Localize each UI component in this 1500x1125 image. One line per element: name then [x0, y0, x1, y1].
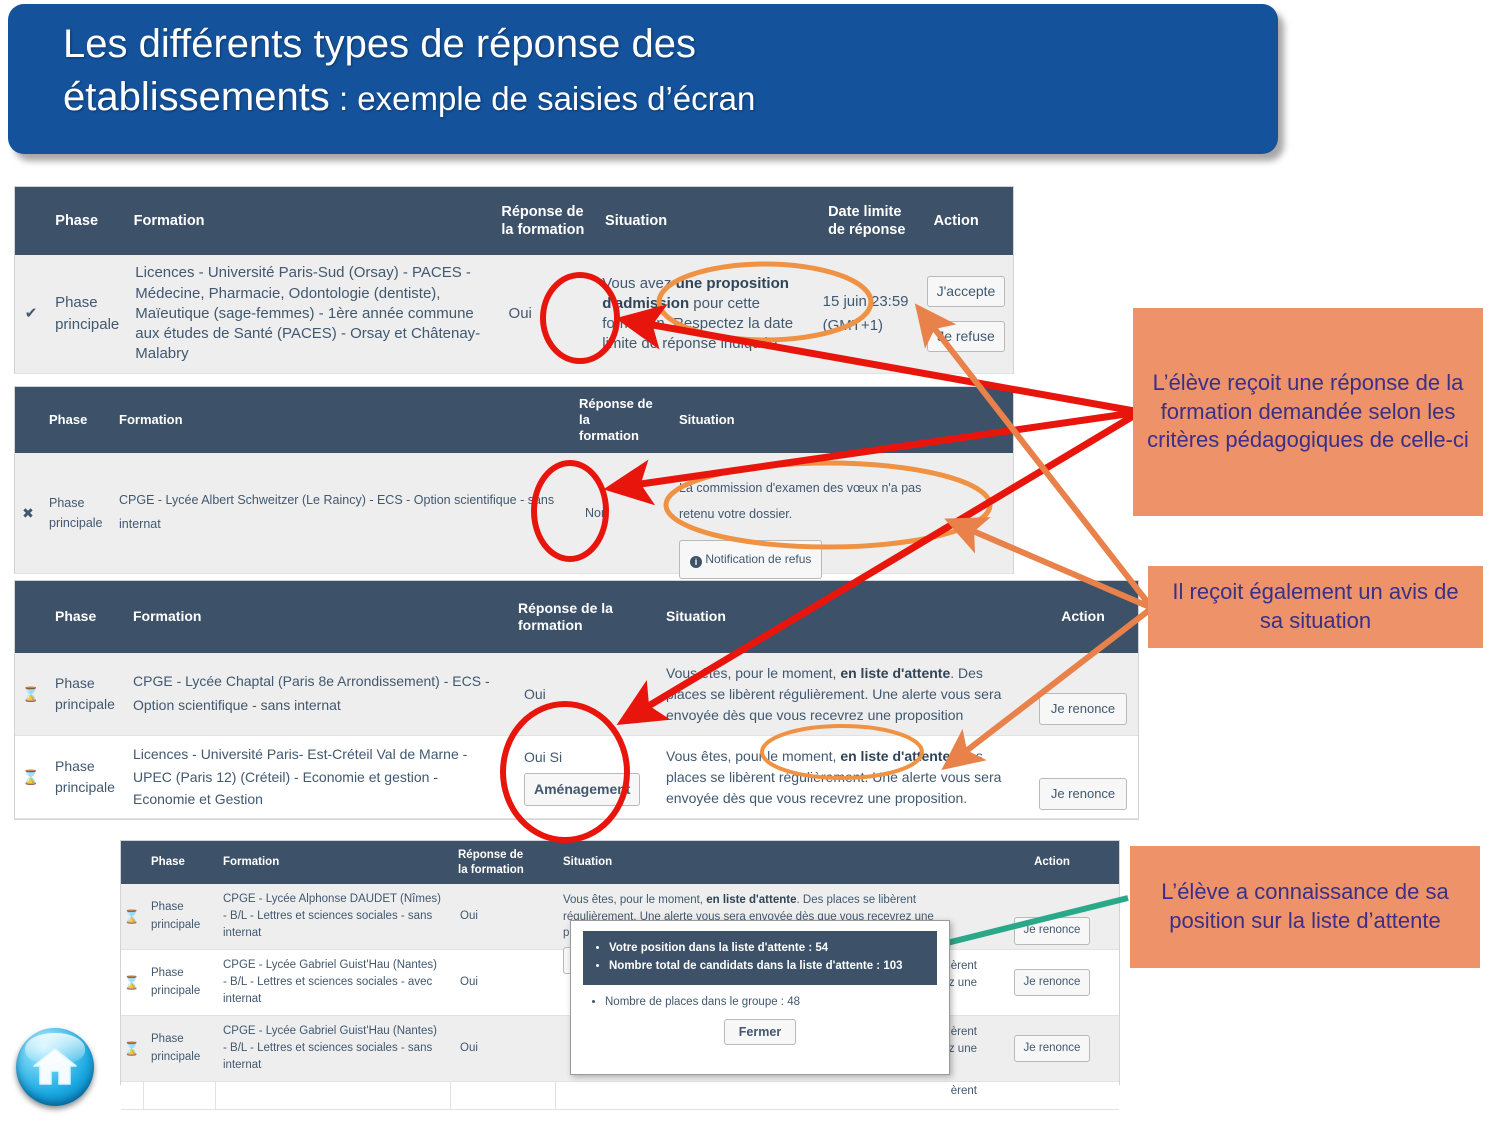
- reponse-value: Oui: [524, 685, 546, 704]
- cell-formation: CPGE - Lycée Chaptal (Paris 8e Arrondiss…: [125, 653, 510, 735]
- annotation-note-reponse: L’élève reçoit une réponse de la formati…: [1133, 308, 1483, 516]
- th-action: Action: [1028, 608, 1138, 626]
- hourglass-icon: ⌛: [121, 884, 143, 949]
- formation-text: CPGE - Lycée Alphonse DAUDET (Nîmes) - B…: [223, 891, 442, 943]
- annotation-note-avis: Il reçoit également un avis de sa situat…: [1148, 566, 1483, 648]
- situation-fragment-a: èrent: [951, 1026, 977, 1038]
- cell-formation: CPGE - Lycée Albert Schweitzer (Le Rainc…: [111, 453, 571, 573]
- cell-phase: Phaseprincipale: [47, 736, 125, 818]
- formation-text: CPGE - Lycée Gabriel Guist'Hau (Nantes) …: [223, 1023, 442, 1075]
- home-icon: [16, 1028, 94, 1106]
- check-icon: ✔: [15, 255, 47, 373]
- phase-line1: Phase: [55, 675, 95, 691]
- phase-line2: principale: [49, 516, 103, 530]
- cell-action: Je renonce: [985, 950, 1119, 1015]
- reponse-value: Non: [585, 505, 608, 522]
- situation-text: Vous êtes, pour le moment, en liste d'at…: [666, 663, 1020, 726]
- phase-line2: principale: [151, 919, 200, 931]
- reponse-value: Oui: [460, 909, 478, 925]
- formation-text: Licences - Université Paris-Sud (Orsay) …: [135, 263, 482, 364]
- situation-text: Vous êtes, pour le moment, en liste d'at…: [666, 746, 1020, 809]
- cell-reponse: Oui: [450, 1016, 555, 1081]
- cell-reponse: Oui: [510, 653, 658, 735]
- th-date-line1: Date limite: [828, 204, 901, 220]
- date-line1: 15 juin 23:59: [823, 293, 909, 310]
- th-situation: Situation: [671, 412, 891, 428]
- phase-line2: principale: [151, 985, 200, 997]
- table-row-truncated: èrent: [121, 1082, 1119, 1110]
- phase-line1: Phase: [151, 967, 184, 979]
- th-formation: Formation: [126, 212, 494, 230]
- situation-pre: Vous êtes, pour le moment,: [563, 894, 706, 906]
- phase-line2: principale: [151, 1051, 200, 1063]
- th-reponse: Réponse de la formation: [510, 600, 658, 635]
- table-row: ✔ Phaseprincipale Licences - Université …: [15, 255, 1013, 374]
- modal-highlight-box: Votre position dans la liste d'attente :…: [583, 931, 937, 985]
- phase-line1: Phase: [49, 496, 84, 510]
- th-reponse-line1: Réponse de: [501, 204, 583, 220]
- page-title-line2: établissements : exemple de saisies d’éc…: [63, 71, 1248, 124]
- cell-phase: Phaseprincipale: [47, 255, 127, 373]
- th-situation: Situation: [555, 855, 985, 869]
- th-reponse-line2: la formation: [458, 864, 524, 876]
- cell-formation: CPGE - Lycée Gabriel Guist'Hau (Nantes) …: [215, 1016, 450, 1081]
- hourglass-icon: ⌛: [15, 736, 47, 818]
- renounce-button[interactable]: Je renonce: [1014, 917, 1091, 945]
- th-reponse-line1: Réponse de: [458, 849, 523, 861]
- table-header-row: Phase Formation Réponse de la formation …: [15, 581, 1138, 653]
- table-header-row: Phase Formation Réponse de la formation …: [15, 187, 1013, 255]
- situation-bold: en liste d'attente: [706, 894, 796, 906]
- cell-action: Je renonce: [1028, 736, 1138, 818]
- cell-action: J'accepte Je refuse: [919, 255, 1013, 373]
- modal-bullet-position: Votre position dans la liste d'attente :…: [609, 940, 927, 958]
- table-liste-attente: Phase Formation Réponse de la formation …: [14, 580, 1139, 820]
- amenagement-button[interactable]: Aménagement: [524, 773, 640, 806]
- cell-reponse: Oui: [491, 255, 595, 373]
- situation-pre: Vous êtes, pour le moment,: [666, 748, 840, 764]
- table-proposition-admission: Phase Formation Réponse de la formation …: [14, 186, 1014, 374]
- table-row: ✖ Phaseprincipale CPGE - Lycée Albert Sc…: [15, 453, 1013, 574]
- modal-plain-section: Nombre de places dans le groupe : 48: [583, 994, 937, 1011]
- th-date-limite: Date limite de réponse: [820, 203, 926, 239]
- th-reponse: Réponse de la formation: [450, 848, 555, 877]
- reponse-value: Oui: [460, 975, 478, 991]
- cell-reponse-empty: [450, 1082, 555, 1109]
- cross-icon: ✖: [15, 453, 41, 573]
- slide-title-banner: Les différents types de réponse des étab…: [8, 4, 1278, 154]
- th-reponse: Réponse de la formation: [571, 396, 671, 445]
- cell-action-empty: [985, 1082, 1119, 1109]
- cell-formation-empty: [215, 1082, 450, 1109]
- cell-reponse: Oui Si Aménagement: [510, 736, 658, 818]
- cell-action: Je renonce: [985, 1016, 1119, 1081]
- phase-line2: principale: [55, 779, 115, 795]
- cell-phase: Phaseprincipale: [143, 884, 215, 949]
- table-row: ⌛ Phaseprincipale CPGE - Lycée Chaptal (…: [15, 653, 1138, 736]
- th-formation: Formation: [215, 855, 450, 869]
- cell-action: Je renonce: [985, 884, 1119, 949]
- cell-formation: CPGE - Lycée Gabriel Guist'Hau (Nantes) …: [215, 950, 450, 1015]
- th-reponse-line2: formation: [579, 428, 639, 443]
- modal-footer: Fermer: [583, 1019, 937, 1045]
- notification-refus-label: Notification de refus: [705, 552, 811, 566]
- situation-text: La commission d'examen des vœux n'a pas …: [679, 481, 921, 521]
- table-header-row: Phase Formation Réponse de la formation …: [121, 841, 1119, 884]
- cell-phase: Phaseprincipale: [41, 453, 111, 573]
- cell-situation-truncated: èrent: [555, 1082, 985, 1109]
- cell-reponse: Non: [571, 453, 671, 573]
- cell-status-empty: [121, 1082, 143, 1109]
- page-title-line2-rest: : exemple de saisies d’écran: [330, 80, 756, 117]
- th-phase: Phase: [47, 608, 125, 626]
- th-situation: Situation: [658, 608, 1028, 626]
- th-action: Action: [926, 212, 1013, 230]
- date-line2: (GMT+1): [823, 317, 883, 334]
- modal-bullet-list: Votre position dans la liste d'attente :…: [587, 940, 927, 976]
- hourglass-icon: ⌛: [15, 653, 47, 735]
- phase-line1: Phase: [55, 758, 95, 774]
- cell-formation: CPGE - Lycée Alphonse DAUDET (Nîmes) - B…: [215, 884, 450, 949]
- phase-line1: Phase: [151, 901, 184, 913]
- renounce-button[interactable]: Je renonce: [1014, 969, 1091, 997]
- cell-situation: Vous êtes, pour le moment, en liste d'at…: [658, 736, 1028, 818]
- phase-line1: Phase: [151, 1033, 184, 1045]
- cell-formation: Licences - Université Paris-Sud (Orsay) …: [127, 255, 490, 373]
- cell-reponse: Oui: [450, 950, 555, 1015]
- th-reponse-line2: la formation: [501, 222, 584, 238]
- formation-text: CPGE - Lycée Gabriel Guist'Hau (Nantes) …: [223, 957, 442, 1009]
- th-reponse-line2: formation: [518, 617, 583, 633]
- cell-phase: Phaseprincipale: [47, 653, 125, 735]
- th-phase: Phase: [143, 855, 215, 869]
- formation-text: CPGE - Lycée Chaptal (Paris 8e Arrondiss…: [133, 670, 502, 718]
- th-formation: Formation: [125, 608, 510, 626]
- reponse-value: Oui: [509, 304, 532, 324]
- cell-reponse: Oui: [450, 884, 555, 949]
- th-reponse-line1: Réponse de la: [518, 600, 613, 616]
- cell-phase: Phaseprincipale: [143, 1016, 215, 1081]
- position-info-modal: Votre position dans la liste d'attente :…: [570, 920, 950, 1075]
- situation-fragment: èrent: [951, 1085, 977, 1097]
- close-modal-button[interactable]: Fermer: [724, 1019, 796, 1045]
- th-phase: Phase: [47, 212, 125, 230]
- situation-bold: en liste d'attente: [840, 748, 950, 764]
- page-title-line2-bold: établissements: [63, 75, 330, 119]
- table-header-row: Phase Formation Réponse de la formation …: [15, 387, 1013, 453]
- situation-pre: Vous avez: [602, 275, 675, 292]
- renounce-button[interactable]: Je renonce: [1039, 778, 1127, 810]
- phase-line2: principale: [55, 316, 119, 333]
- hourglass-icon: ⌛: [121, 950, 143, 1015]
- th-date-line2: de réponse: [828, 222, 905, 238]
- renounce-button[interactable]: Je renonce: [1014, 1035, 1091, 1063]
- modal-bullet-total: Nombre total de candidats dans la liste …: [609, 958, 927, 976]
- cell-situation: La commission d'examen des vœux n'a pas …: [671, 453, 931, 573]
- th-action: Action: [985, 855, 1119, 869]
- th-reponse: Réponse de la formation: [493, 203, 597, 239]
- table-refus: Phase Formation Réponse de la formation …: [14, 386, 1014, 574]
- renounce-button[interactable]: Je renonce: [1039, 693, 1127, 725]
- th-reponse-line1: Réponse de la: [579, 396, 653, 427]
- situation-text: Vous avez une proposition d'admission po…: [602, 274, 806, 355]
- cell-situation: Vous avez une proposition d'admission po…: [594, 255, 814, 373]
- situation-pre: Vous êtes, pour le moment,: [666, 665, 840, 681]
- formation-text: CPGE - Lycée Albert Schweitzer (Le Rainc…: [119, 489, 563, 537]
- cell-action: Je renonce: [1028, 653, 1138, 735]
- info-icon: i: [690, 556, 702, 568]
- table-row: ⌛ Phaseprincipale Licences - Université …: [15, 736, 1138, 819]
- annotation-note-position: L’élève a connaissance de sa position su…: [1130, 846, 1480, 968]
- phase-line2: principale: [55, 696, 115, 712]
- situation-fragment-a: èrent: [951, 960, 977, 972]
- th-situation: Situation: [597, 212, 820, 230]
- cell-date-limite: 15 juin 23:59(GMT+1): [815, 255, 919, 373]
- cell-phase: Phaseprincipale: [143, 950, 215, 1015]
- cell-spacer: [931, 453, 1013, 573]
- refuse-button[interactable]: Je refuse: [927, 321, 1005, 352]
- reponse-value: Oui: [460, 1041, 478, 1057]
- phase-line1: Phase: [55, 294, 98, 311]
- situation-bold: en liste d'attente: [840, 665, 950, 681]
- cell-situation: Vous êtes, pour le moment, en liste d'at…: [658, 653, 1028, 735]
- home-button[interactable]: [16, 1028, 94, 1106]
- page-title: Les différents types de réponse des étab…: [63, 18, 1248, 124]
- modal-bullet-places: Nombre de places dans le groupe : 48: [605, 994, 937, 1011]
- formation-text: Licences - Université Paris- Est-Créteil…: [133, 743, 502, 810]
- hourglass-icon: ⌛: [121, 1016, 143, 1081]
- accept-button[interactable]: J'accepte: [927, 276, 1005, 307]
- notification-refus-button[interactable]: i Notification de refus: [679, 540, 822, 579]
- cell-phase-empty: [143, 1082, 215, 1109]
- reponse-value: Oui Si: [524, 748, 562, 767]
- cell-formation: Licences - Université Paris- Est-Créteil…: [125, 736, 510, 818]
- th-formation: Formation: [111, 412, 571, 428]
- page-title-line1: Les différents types de réponse des: [63, 18, 1248, 71]
- th-phase: Phase: [41, 412, 111, 428]
